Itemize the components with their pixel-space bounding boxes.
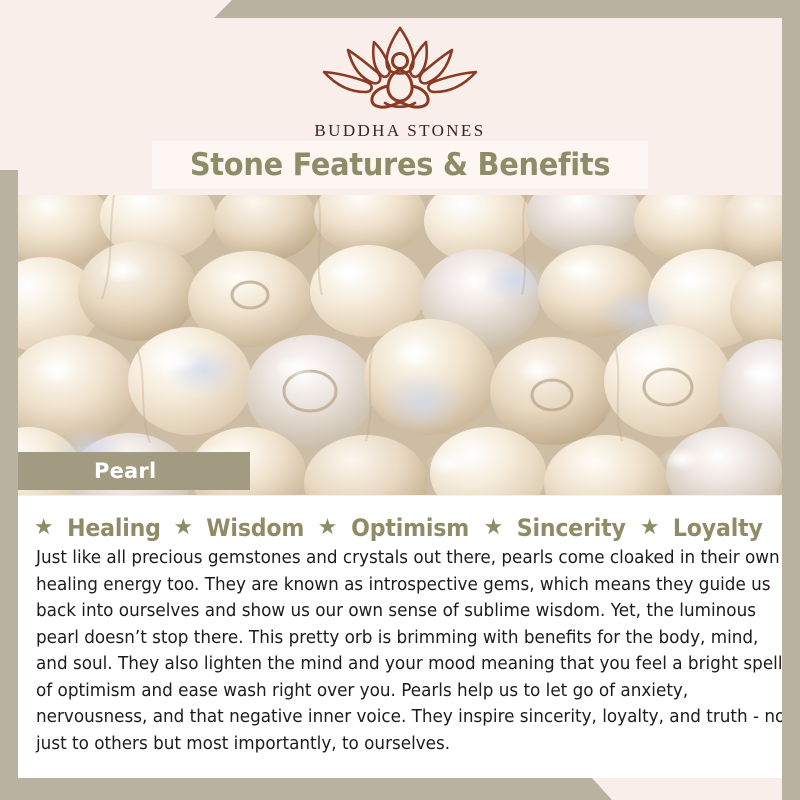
description-text: Just like all precious gemstones and cry… xyxy=(36,545,795,757)
stone-name-tag: Pearl xyxy=(18,452,250,490)
keyword-wisdom: Wisdom xyxy=(206,514,304,542)
star-icon: ★ xyxy=(640,516,660,538)
star-icon: ★ xyxy=(173,516,193,538)
page-title-banner: Stone Features & Benefits xyxy=(152,141,648,189)
keyword-loyalty: Loyalty xyxy=(672,514,762,542)
star-icon: ★ xyxy=(34,516,54,538)
keyword-optimism: Optimism xyxy=(352,514,470,542)
frame-band-right xyxy=(782,0,800,800)
content-panel: ★ Healing ★ Wisdom ★ Optimism ★ Sincerit… xyxy=(18,496,782,778)
frame-band-bottom xyxy=(0,778,800,800)
star-icon: ★ xyxy=(484,516,504,538)
lotus-meditation-icon xyxy=(0,22,800,119)
brand-logo: BUDDHA STONES xyxy=(0,22,800,141)
frame-band-left xyxy=(0,170,18,800)
keyword-sincerity: Sincerity xyxy=(517,514,626,542)
star-icon: ★ xyxy=(318,516,338,538)
brand-name: BUDDHA STONES xyxy=(0,121,800,141)
keyword-healing: Healing xyxy=(67,514,161,542)
pearls-photo xyxy=(18,195,782,495)
page-title: Stone Features & Benefits xyxy=(190,147,610,183)
keyword-list: ★ Healing ★ Wisdom ★ Optimism ★ Sincerit… xyxy=(18,496,782,542)
stone-name: Pearl xyxy=(94,459,156,483)
stone-features-infographic: BUDDHA STONES xyxy=(0,0,800,800)
